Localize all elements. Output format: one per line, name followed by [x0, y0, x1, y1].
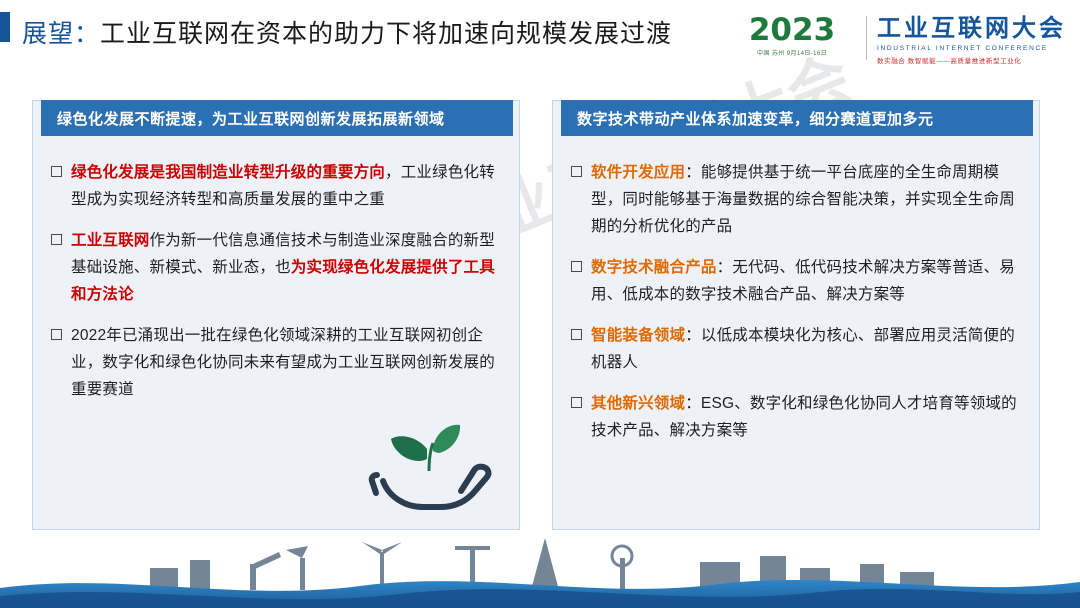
square-bullet-icon: [51, 329, 62, 340]
list-item-text: 2022年已涌现出一批在绿色化领域深耕的工业互联网初创企业，数字化和绿色化协同未…: [71, 322, 499, 403]
logo-year-block: 2023 中国 苏州 9月14日-16日: [724, 14, 860, 57]
conference-logo: 2023 中国 苏州 9月14日-16日 工业互联网大会 INDUSTRIAL …: [724, 14, 1066, 64]
list-item-text: 软件开发应用：能够提供基于统一平台底座的全生命周期模型，同时能够基于海量数据的综…: [591, 159, 1019, 240]
square-bullet-icon: [571, 397, 582, 408]
logo-divider: [866, 16, 867, 60]
hand-plant-icon: [363, 419, 493, 519]
list-item-text: 绿色化发展是我国制造业转型升级的重要方向，工业绿色化转型成为实现经济转型和高质量…: [71, 159, 499, 213]
text-segment: 工业互联网: [71, 232, 150, 249]
logo-year-subtitle: 中国 苏州 9月14日-16日: [724, 48, 860, 57]
page-title: 展望：工业互联网在资本的助力下将加速向规模发展过渡: [22, 14, 672, 50]
text-segment: 智能装备领域: [591, 327, 685, 344]
square-bullet-icon: [571, 329, 582, 340]
list-item-text: 其他新兴领域：ESG、数字化和绿色化协同人才培育等领域的技术产品、解决方案等: [591, 390, 1019, 444]
list-item: 其他新兴领域：ESG、数字化和绿色化协同人才培育等领域的技术产品、解决方案等: [571, 390, 1019, 444]
logo-tagline: 数实融合 数智赋能——高质量推进新型工业化: [877, 55, 1066, 65]
text-segment: 绿色化发展是我国制造业转型升级的重要方向: [71, 164, 385, 181]
panel-left-heading: 绿色化发展不断提速，为工业互联网创新发展拓展新领域: [41, 100, 513, 136]
text-segment: 数字技术融合产品: [591, 259, 717, 276]
text-segment: 其他新兴领域: [591, 395, 685, 412]
panel-left: 绿色化发展不断提速，为工业互联网创新发展拓展新领域 绿色化发展是我国制造业转型升…: [32, 100, 520, 530]
list-item: 数字技术融合产品：无代码、低代码技术解决方案等普适、易用、低成本的数字技术融合产…: [571, 254, 1019, 308]
logo-year: 2023: [724, 14, 860, 46]
panel-right-heading: 数字技术带动产业体系加速变革，细分赛道更加多元: [561, 100, 1033, 136]
title-accent-bar: [0, 12, 10, 42]
square-bullet-icon: [51, 166, 62, 177]
list-item-text: 智能装备领域：以低成本模块化为核心、部署应用灵活简便的机器人: [591, 322, 1019, 376]
text-segment: 2022年已涌现出一批在绿色化领域深耕的工业互联网初创企业，数字化和绿色化协同未…: [71, 327, 495, 398]
list-item: 2022年已涌现出一批在绿色化领域深耕的工业互联网初创企业，数字化和绿色化协同未…: [51, 322, 499, 403]
logo-text-block: 工业互联网大会 INDUSTRIAL INTERNET CONFERENCE 数…: [877, 14, 1066, 65]
text-segment: 软件开发应用: [591, 164, 685, 181]
list-item-text: 数字技术融合产品：无代码、低代码技术解决方案等普适、易用、低成本的数字技术融合产…: [591, 254, 1019, 308]
page-title-main: 工业互联网在资本的助力下将加速向规模发展过渡: [100, 20, 672, 48]
logo-conference-en: INDUSTRIAL INTERNET CONFERENCE: [877, 45, 1066, 52]
list-item: 智能装备领域：以低成本模块化为核心、部署应用灵活简便的机器人: [571, 322, 1019, 376]
list-item: 软件开发应用：能够提供基于统一平台底座的全生命周期模型，同时能够基于海量数据的综…: [571, 159, 1019, 240]
list-item-text: 工业互联网作为新一代信息通信技术与制造业深度融合的新型基础设施、新模式、新业态，…: [71, 227, 499, 308]
list-item: 绿色化发展是我国制造业转型升级的重要方向，工业绿色化转型成为实现经济转型和高质量…: [51, 159, 499, 213]
footer-skyline: [0, 528, 1080, 608]
logo-conference-cn: 工业互联网大会: [877, 16, 1066, 42]
panel-right-body: 软件开发应用：能够提供基于统一平台底座的全生命周期模型，同时能够基于海量数据的综…: [553, 145, 1041, 458]
panel-right: 数字技术带动产业体系加速变革，细分赛道更加多元 软件开发应用：能够提供基于统一平…: [552, 100, 1040, 530]
square-bullet-icon: [51, 234, 62, 245]
panel-left-body: 绿色化发展是我国制造业转型升级的重要方向，工业绿色化转型成为实现经济转型和高质量…: [33, 145, 521, 417]
page-header: 展望：工业互联网在资本的助力下将加速向规模发展过渡 2023 中国 苏州 9月1…: [0, 0, 1080, 78]
skyline-graphic: [0, 528, 1080, 608]
page-title-prefix: 展望：: [22, 20, 100, 48]
square-bullet-icon: [571, 261, 582, 272]
square-bullet-icon: [571, 166, 582, 177]
list-item: 工业互联网作为新一代信息通信技术与制造业深度融合的新型基础设施、新模式、新业态，…: [51, 227, 499, 308]
